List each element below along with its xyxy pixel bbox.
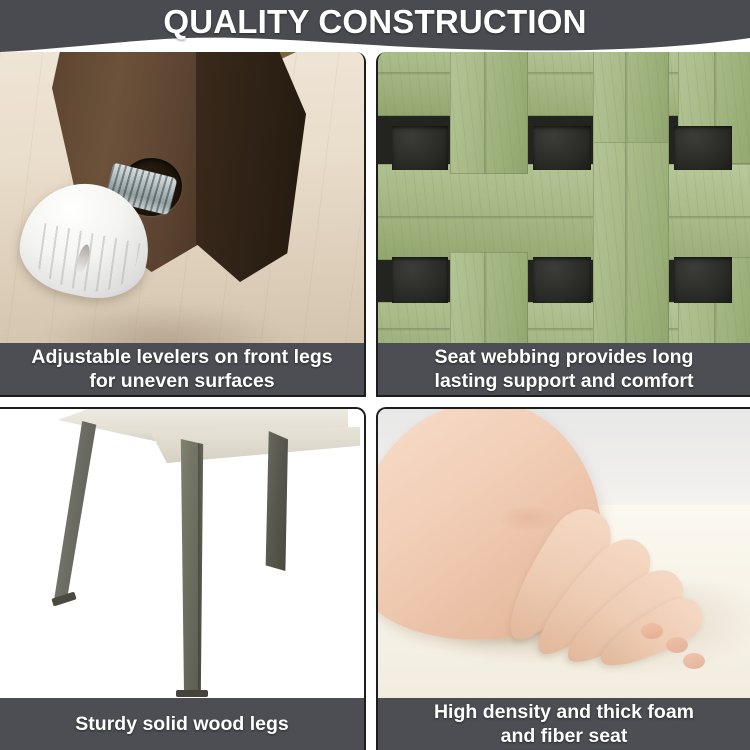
panel-grid: Adjustable levelers on front legs for un… bbox=[0, 52, 750, 750]
webbing-strap-vertical bbox=[450, 52, 528, 174]
webbing-strap-vertical bbox=[593, 142, 669, 372]
webbing-gap bbox=[674, 126, 732, 170]
panel-adjustable-levelers[interactable]: Adjustable levelers on front legs for un… bbox=[0, 52, 366, 397]
fingernail bbox=[666, 637, 688, 653]
caption-line-2: and fiber seat bbox=[501, 724, 628, 748]
wood-leg-front-foot bbox=[176, 690, 208, 697]
panel-seat-webbing[interactable]: Seat webbing provides long lasting suppo… bbox=[376, 52, 750, 397]
caption-line-1: Seat webbing provides long bbox=[435, 345, 694, 369]
caption-line-2: lasting support and comfort bbox=[435, 369, 694, 393]
webbing-gap bbox=[533, 126, 591, 170]
webbing-gap bbox=[533, 257, 591, 303]
caption-line-1: High density and thick foam bbox=[434, 700, 694, 724]
caption-high-density-foam: High density and thick foam and fiber se… bbox=[378, 698, 750, 750]
hand-knuckles bbox=[498, 505, 558, 531]
webbing-gap bbox=[392, 257, 448, 303]
caption-seat-webbing: Seat webbing provides long lasting suppo… bbox=[378, 343, 750, 395]
caption-solid-wood-legs: Sturdy solid wood legs bbox=[0, 698, 364, 750]
webbing-gap bbox=[392, 126, 448, 170]
fingernail bbox=[683, 653, 705, 669]
panel-high-density-foam[interactable]: High density and thick foam and fiber se… bbox=[376, 407, 750, 750]
header-banner: QUALITY CONSTRUCTION bbox=[0, 0, 750, 60]
webbing-gap bbox=[674, 257, 732, 303]
webbing-strap-horizontal bbox=[376, 164, 750, 260]
fingernail bbox=[641, 623, 663, 639]
caption-adjustable-levelers: Adjustable levelers on front legs for un… bbox=[0, 343, 364, 395]
caption-line-1: Sturdy solid wood legs bbox=[75, 712, 288, 736]
caption-line-1: Adjustable levelers on front legs bbox=[31, 345, 332, 369]
webbing-strap-vertical bbox=[593, 52, 669, 156]
panel-solid-wood-legs[interactable]: Sturdy solid wood legs bbox=[0, 407, 366, 750]
page-title: QUALITY CONSTRUCTION bbox=[0, 0, 750, 44]
caption-line-2: for uneven surfaces bbox=[89, 369, 274, 393]
